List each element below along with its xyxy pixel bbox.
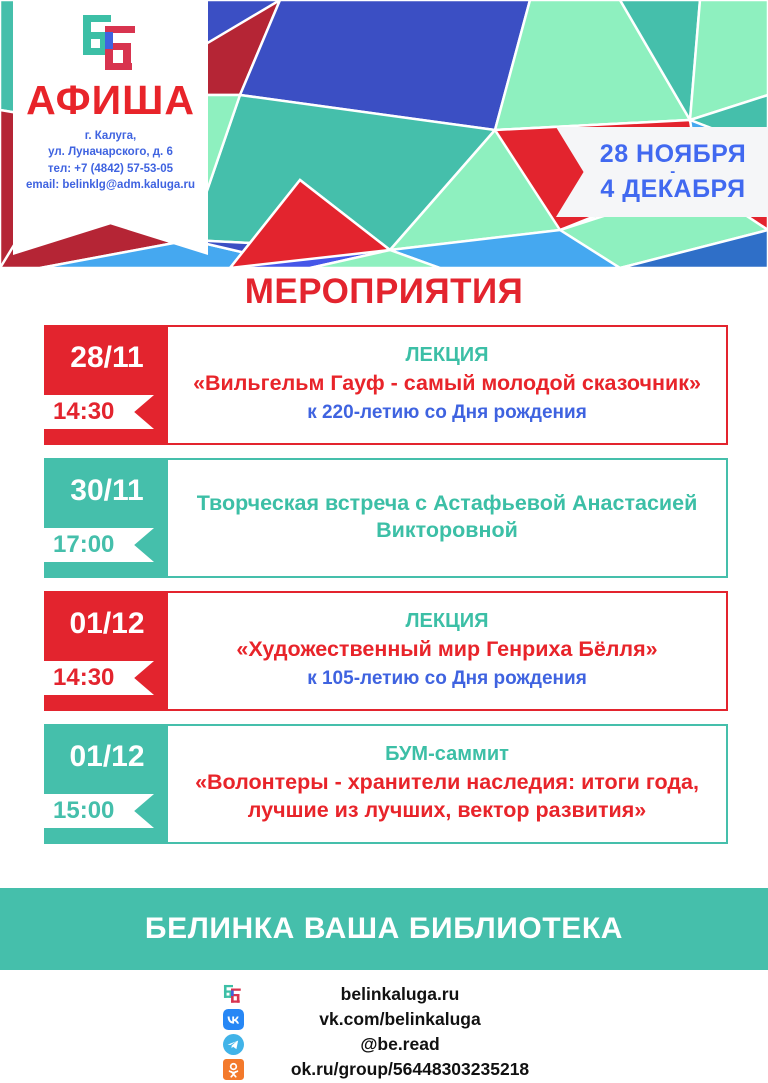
event-title: Творческая встреча с Астафьевой Анастаси… <box>182 490 712 544</box>
event-time: 14:30 <box>53 666 114 690</box>
event-date-column: 01/1214:30 <box>46 593 168 709</box>
social-row[interactable]: @be.read <box>0 1032 768 1056</box>
header-banner: АФИША г. Калуга, ул. Луначарского, д. 6 … <box>0 0 768 268</box>
belinka-logo-icon[interactable] <box>222 983 244 1005</box>
event-card[interactable]: 01/1215:00БУМ-саммит«Волонтеры - храните… <box>44 724 728 844</box>
poster: АФИША г. Калуга, ул. Луначарского, д. 6 … <box>0 0 768 1083</box>
phone-line: тел: +7 (4842) 57-53-05 <box>48 161 173 177</box>
event-kicker: ЛЕКЦИЯ <box>406 609 489 634</box>
belinka-logo-icon <box>81 12 141 74</box>
event-kicker: ЛЕКЦИЯ <box>406 343 489 368</box>
page-title: АФИША <box>26 80 195 121</box>
email-line: email: belinklg@adm.kaluga.ru <box>26 177 195 193</box>
slogan-text: БЕЛИНКА ВАША БИБЛИОТЕКА <box>145 912 623 946</box>
event-title: «Волонтеры - хранители наследия: итоги г… <box>182 769 712 823</box>
event-body: ЛЕКЦИЯ«Художественный мир Генриха Бёлля»… <box>168 593 726 709</box>
event-card[interactable]: 01/1214:30ЛЕКЦИЯ«Художественный мир Генр… <box>44 591 728 711</box>
event-time-ribbon: 15:00 <box>44 794 154 828</box>
odnoklassniki-icon[interactable] <box>222 1058 244 1080</box>
social-row[interactable]: ok.ru/group/56448303235218 <box>0 1057 768 1081</box>
social-links: belinkaluga.ruvk.com/belinkaluga@be.read… <box>0 982 768 1082</box>
social-label[interactable]: @be.read <box>244 1034 768 1055</box>
event-card[interactable]: 30/1117:00Творческая встреча с Астафьево… <box>44 458 728 578</box>
event-date-column: 30/1117:00 <box>46 460 168 576</box>
social-row[interactable]: vk.com/belinkaluga <box>0 1007 768 1031</box>
event-time-ribbon: 14:30 <box>44 395 154 429</box>
event-kicker: БУМ-саммит <box>385 742 509 767</box>
event-date-column: 28/1114:30 <box>46 327 168 443</box>
event-body: БУМ-саммит«Волонтеры - хранители наследи… <box>168 726 726 842</box>
slogan-bar: БЕЛИНКА ВАША БИБЛИОТЕКА <box>0 888 768 970</box>
logo-banner: АФИША г. Калуга, ул. Луначарского, д. 6 … <box>13 0 208 255</box>
event-subtitle: к 220-летию со Дня рождения <box>307 401 587 426</box>
social-label[interactable]: vk.com/belinkaluga <box>244 1009 768 1030</box>
social-row[interactable]: belinkaluga.ru <box>0 982 768 1006</box>
event-date: 28/11 <box>70 343 143 373</box>
event-time: 14:30 <box>53 400 114 424</box>
telegram-icon[interactable] <box>222 1033 244 1055</box>
event-date: 30/11 <box>70 476 143 506</box>
event-date: 01/12 <box>69 609 144 639</box>
social-label[interactable]: ok.ru/group/56448303235218 <box>244 1059 768 1080</box>
event-subtitle: к 105-летию со Дня рождения <box>307 667 587 692</box>
event-time: 17:00 <box>53 533 114 557</box>
event-time: 15:00 <box>53 799 114 823</box>
address-line-1: г. Калуга, <box>85 128 137 144</box>
event-date-column: 01/1215:00 <box>46 726 168 842</box>
event-date: 01/12 <box>69 742 144 772</box>
event-body: ЛЕКЦИЯ«Вильгельм Гауф - самый молодой ск… <box>168 327 726 443</box>
address-line-2: ул. Луначарского, д. 6 <box>48 144 173 160</box>
vk-icon[interactable] <box>222 1008 244 1030</box>
event-time-ribbon: 14:30 <box>44 661 154 695</box>
social-label[interactable]: belinkaluga.ru <box>244 984 768 1005</box>
date-range-end: 4 ДЕКАБРЯ <box>600 177 745 202</box>
event-card[interactable]: 28/1114:30ЛЕКЦИЯ«Вильгельм Гауф - самый … <box>44 325 728 445</box>
date-range-flag: 28 НОЯБРЯ - 4 ДЕКАБРЯ <box>556 127 768 217</box>
event-title: «Художественный мир Генриха Бёлля» <box>236 636 657 663</box>
event-time-ribbon: 17:00 <box>44 528 154 562</box>
section-title: МЕРОПРИЯТИЯ <box>0 272 768 312</box>
events-list: 28/1114:30ЛЕКЦИЯ«Вильгельм Гауф - самый … <box>44 325 728 857</box>
event-body: Творческая встреча с Астафьевой Анастаси… <box>168 460 726 576</box>
event-title: «Вильгельм Гауф - самый молодой сказочни… <box>193 370 701 397</box>
